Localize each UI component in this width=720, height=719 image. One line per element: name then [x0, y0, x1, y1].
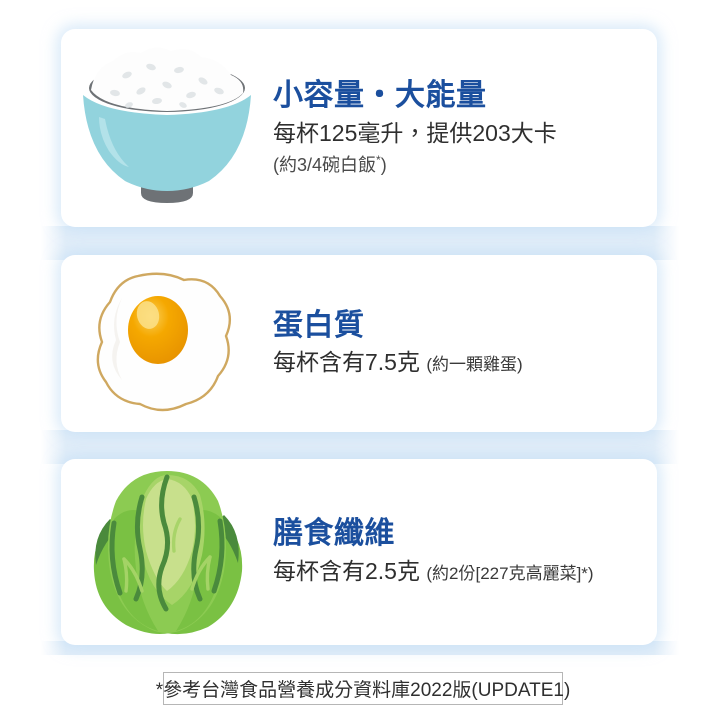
card-protein[interactable]: 蛋白質 每杯含有7.5克 (約一顆雞蛋) [61, 255, 657, 432]
card-protein-line-main: 每杯含有7.5克 [273, 349, 420, 375]
cabbage-icon [84, 467, 250, 637]
fried-egg-icon [92, 270, 242, 418]
card-energy-note-prefix: (約3/4碗白飯 [273, 155, 376, 175]
card-protein-line: 每杯含有7.5克 (約一顆雞蛋) [273, 348, 643, 378]
source-footnote-text: *參考台灣食品營養成分資料庫2022版(UPDATE1) [156, 675, 571, 702]
right-edge-fade [654, 0, 720, 719]
card-protein-line-sub: (約一顆雞蛋) [426, 355, 522, 374]
card-fiber-line-main: 每杯含有2.5克 [273, 558, 420, 584]
card-fiber-line-sub: (約2份[227克高麗菜]*) [426, 564, 593, 583]
card-fiber-line: 每杯含有2.5克 (約2份[227克高麗菜]*) [273, 557, 643, 587]
card-energy[interactable]: 小容量・大能量 每杯125毫升，提供203大卡 (約3/4碗白飯*) [61, 29, 657, 227]
infographic-page: 小容量・大能量 每杯125毫升，提供203大卡 (約3/4碗白飯*) [0, 0, 720, 719]
card-energy-line: 每杯125毫升，提供203大卡 [273, 119, 643, 149]
source-footnote: *參考台灣食品營養成分資料庫2022版(UPDATE1) [163, 672, 563, 705]
card-energy-line-main: 每杯125毫升，提供203大卡 [273, 120, 557, 146]
card-energy-title: 小容量・大能量 [273, 79, 643, 113]
card-protein-text: 蛋白質 每杯含有7.5克 (約一顆雞蛋) [273, 309, 657, 378]
card-fiber-art [61, 462, 273, 642]
card-fiber-text: 膳食纖維 每杯含有2.5克 (約2份[227克高麗菜]*) [273, 517, 657, 586]
card-energy-art [61, 37, 273, 219]
left-edge-fade [0, 0, 66, 719]
card-fiber-title: 膳食纖維 [273, 517, 643, 551]
rice-bowl-icon [79, 43, 255, 213]
card-protein-title: 蛋白質 [273, 309, 643, 343]
card-energy-text: 小容量・大能量 每杯125毫升，提供203大卡 (約3/4碗白飯*) [273, 79, 657, 177]
card-protein-art [61, 262, 273, 425]
card-fiber[interactable]: 膳食纖維 每杯含有2.5克 (約2份[227克高麗菜]*) [61, 459, 657, 645]
card-energy-note-suffix: ) [381, 155, 387, 175]
card-energy-note: (約3/4碗白飯*) [273, 154, 643, 177]
